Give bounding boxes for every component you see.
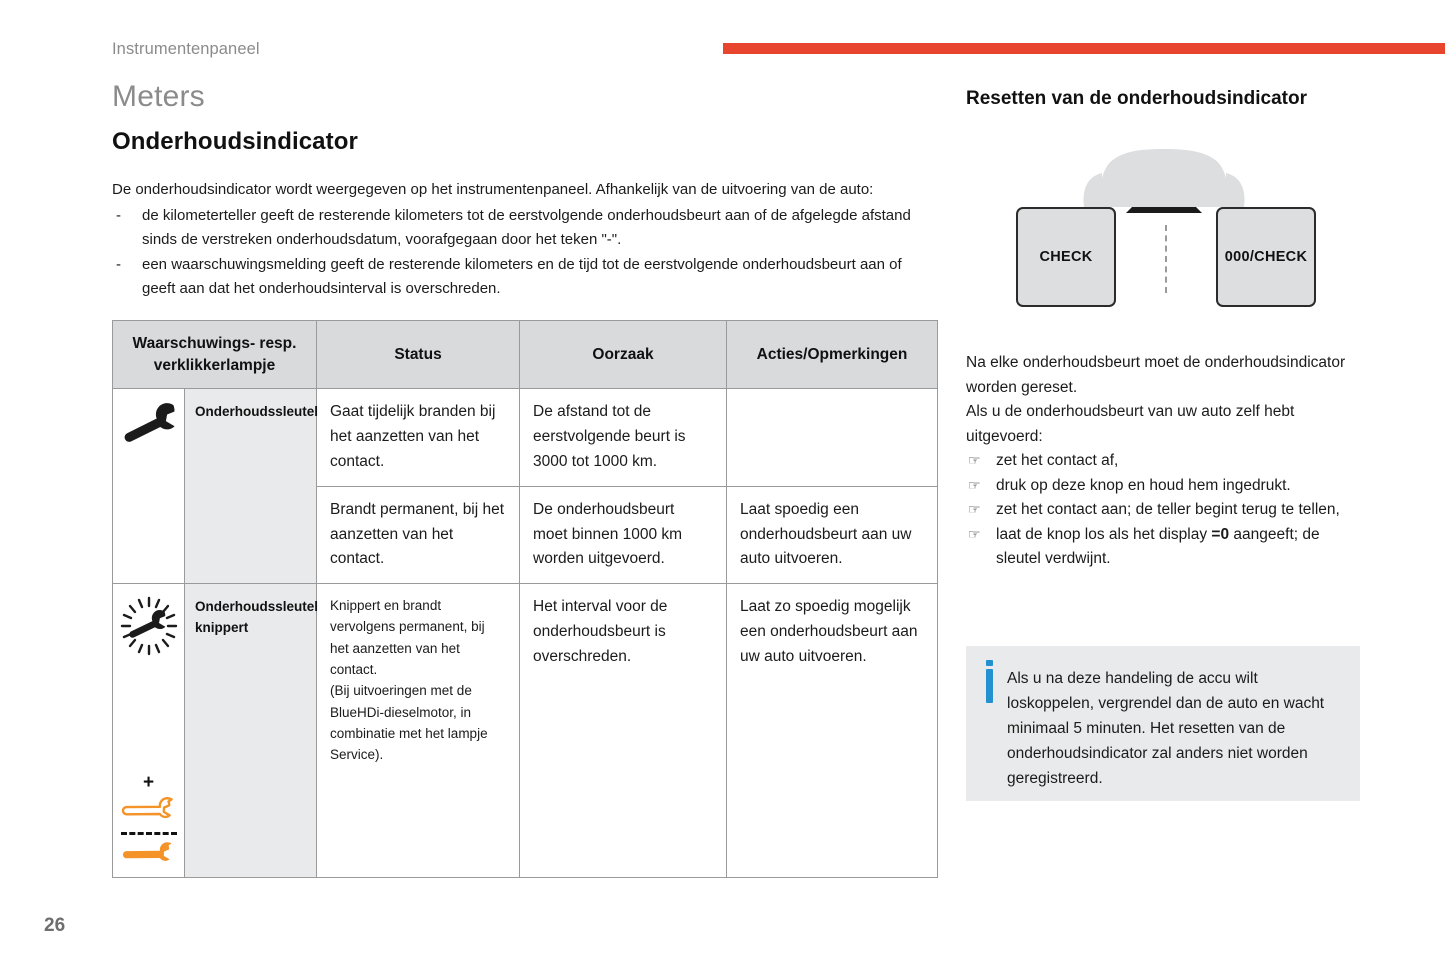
reset-paragraph-2: Als u de onderhoudsbeurt van uw auto zel… <box>966 400 1362 449</box>
list-item: - een waarschuwingsmelding geeft de rest… <box>112 253 937 301</box>
header-accent-bar <box>723 43 1445 54</box>
list-item-text: druk op deze knop en houd hem ingedrukt. <box>996 477 1291 494</box>
page-number: 26 <box>44 915 65 937</box>
blinking-wrench-icon-cell: + <box>113 584 185 878</box>
dashed-separator <box>121 832 177 835</box>
wrench-icon <box>119 401 178 549</box>
plus-sign: + <box>119 773 178 792</box>
info-callout-box: Als u na deze handeling de accu wilt los… <box>966 646 1360 801</box>
list-item-text: de kilometerteller geeft de resterende k… <box>142 207 911 248</box>
cause-cell: Het interval voor de onderhoudsbeurt is … <box>520 584 727 878</box>
column-header-lamp: Waarschuwings- resp. verklikkerlampje <box>113 321 317 389</box>
status-cell: Brandt permanent, bij het aanzetten van … <box>317 486 520 583</box>
000-check-button[interactable]: 000/CHECK <box>1216 207 1316 307</box>
lamp-name-cell: Onderhoudssleutel knippert <box>185 584 317 878</box>
list-item-text: zet het contact aan; de teller begint te… <box>996 501 1340 518</box>
list-item-text: een waarschuwingsmelding geeft de rester… <box>142 256 902 297</box>
list-item: ☞ zet het contact af, <box>966 449 1362 473</box>
left-column: Meters Onderhoudsindicator De onderhouds… <box>112 80 937 302</box>
chapter-title: Meters <box>112 80 937 114</box>
status-cell: Knippert en brandt vervolgens permanent,… <box>317 584 520 878</box>
right-column: Resetten van de onderhoudsindicator CHEC… <box>966 86 1362 572</box>
info-icon <box>986 669 993 703</box>
dash-marker: - <box>116 253 121 277</box>
check-button-label: CHECK <box>1039 249 1092 265</box>
info-callout-text: Als u na deze handeling de accu wilt los… <box>1007 666 1338 781</box>
table-row: Onderhoudssleutel Gaat tijdelijk branden… <box>113 389 938 486</box>
list-item: ☞ laat de knop los als het display =0 aa… <box>966 523 1362 572</box>
table-header-row: Waarschuwings- resp. verklikkerlampje St… <box>113 321 938 389</box>
000-check-button-label: 000/CHECK <box>1225 249 1307 265</box>
lamp-name-cell: Onderhoudssleutel <box>185 389 317 584</box>
hand-pointer-icon: ☞ <box>968 498 981 520</box>
car-silhouette-icon <box>966 143 1362 213</box>
reset-button-diagram: CHECK 000/CHECK <box>966 147 1362 337</box>
hand-pointer-icon: ☞ <box>968 523 981 545</box>
service-wrench-filled-icon <box>119 840 178 871</box>
column-header-cause: Oorzaak <box>520 321 727 389</box>
status-cell: Gaat tijdelijk branden bij het aanzetten… <box>317 389 520 486</box>
column-header-action: Acties/Opmerkingen <box>727 321 938 389</box>
service-wrench-outline-icon <box>119 796 178 827</box>
column-header-status: Status <box>317 321 520 389</box>
warning-lamps-table: Waarschuwings- resp. verklikkerlampje St… <box>112 320 938 878</box>
diagram-divider <box>1165 225 1167 293</box>
intro-paragraph: De onderhoudsindicator wordt weergegeven… <box>112 178 937 201</box>
step4-before: laat de knop los als het display <box>996 526 1211 543</box>
cause-cell: De afstand tot de eerstvolgende beurt is… <box>520 389 727 486</box>
check-button[interactable]: CHECK <box>1016 207 1116 307</box>
list-item: ☞ druk op deze knop en houd hem ingedruk… <box>966 474 1362 498</box>
action-cell: Laat spoedig een onderhoudsbeurt aan uw … <box>727 486 938 583</box>
list-item: - de kilometerteller geeft de resterende… <box>112 204 937 252</box>
step4-bold-value: =0 <box>1211 526 1229 543</box>
list-item-text: zet het contact af, <box>996 452 1118 469</box>
section-title: Onderhoudsindicator <box>112 128 937 156</box>
action-cell <box>727 389 938 486</box>
hand-pointer-icon: ☞ <box>968 449 981 471</box>
dash-bullet-list: - de kilometerteller geeft de resterende… <box>112 204 937 301</box>
list-item-text: laat de knop los als het display =0 aang… <box>996 526 1320 567</box>
reset-section-title: Resetten van de onderhoudsindicator <box>966 86 1362 111</box>
cause-cell: De onderhoudsbeurt moet binnen 1000 km w… <box>520 486 727 583</box>
reset-steps-list: ☞ zet het contact af, ☞ druk op deze kno… <box>966 449 1362 571</box>
dash-marker: - <box>116 204 121 228</box>
blinking-wrench-icon <box>119 596 178 766</box>
hand-pointer-icon: ☞ <box>968 474 981 496</box>
wrench-icon-cell <box>113 389 185 584</box>
table-row: + Onderhoudssleutel knippert Knippert en… <box>113 584 938 878</box>
list-item: ☞ zet het contact aan; de teller begint … <box>966 498 1362 522</box>
reset-paragraph-1: Na elke onderhoudsbeurt moet de onderhou… <box>966 351 1362 400</box>
action-cell: Laat zo spoedig mogelijk een onderhoudsb… <box>727 584 938 878</box>
running-head: Instrumentenpaneel <box>112 40 260 59</box>
